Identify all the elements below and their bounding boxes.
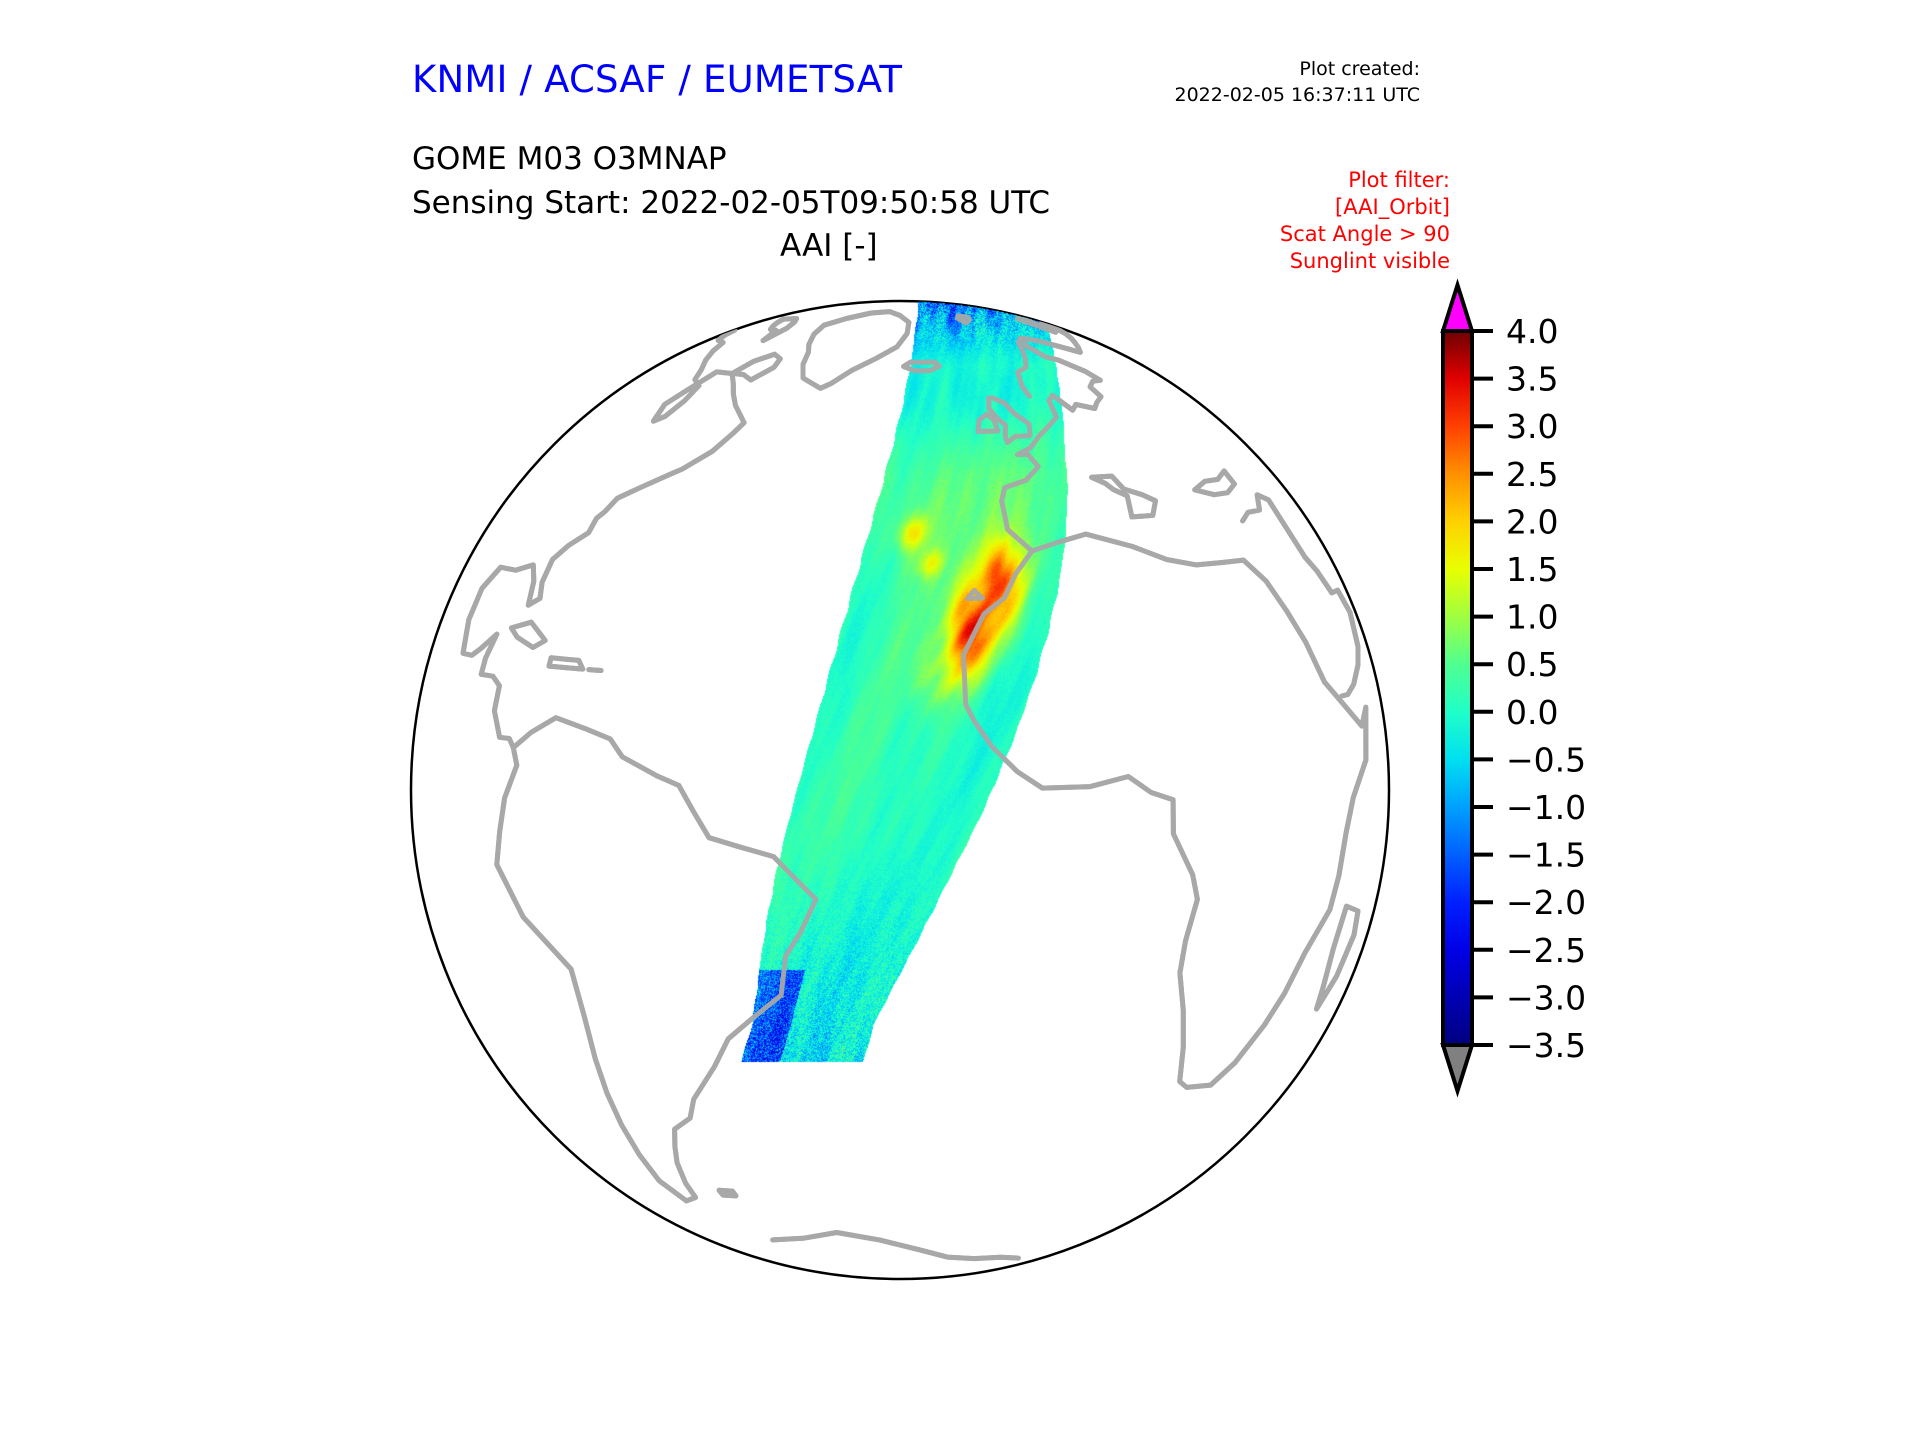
plot-filter-line-1: Plot filter: xyxy=(1110,167,1450,194)
colorbar-tick-label: 3.0 xyxy=(1506,407,1558,446)
coastline-path xyxy=(589,670,601,671)
colorbar-tick-label: 0.5 xyxy=(1506,645,1558,684)
plot-filter-line-2: [AAI_Orbit] xyxy=(1110,194,1450,221)
colorbar-tick-label: 4.0 xyxy=(1506,312,1558,351)
aai-swath xyxy=(400,283,1400,1303)
instrument-title: GOME M03 O3MNAP xyxy=(412,137,1050,181)
colorbar-tick-label: 2.5 xyxy=(1506,455,1558,494)
variable-title: AAI [-] xyxy=(780,228,878,264)
organisation-title: KNMI / ACSAF / EUMETSAT xyxy=(412,58,902,101)
plot-filter-block: Plot filter: [AAI_Orbit] Scat Angle > 90… xyxy=(1110,167,1450,275)
colorbar-over-arrow xyxy=(1443,285,1472,331)
colorbar-tick-label: −3.0 xyxy=(1506,978,1586,1017)
page-title: GOME M03 O3MNAP Sensing Start: 2022-02-0… xyxy=(412,137,1050,225)
plot-created-block: Plot created: 2022-02-05 16:37:11 UTC xyxy=(1100,56,1420,108)
colorbar-tick-label: −2.5 xyxy=(1506,931,1586,970)
colorbar-tick-label: 2.0 xyxy=(1506,502,1558,541)
map-contents xyxy=(400,283,1400,1303)
sensing-start-title: Sensing Start: 2022-02-05T09:50:58 UTC xyxy=(412,181,1050,225)
coastline-path xyxy=(957,316,969,323)
colorbar-tick-label: −1.0 xyxy=(1506,788,1586,827)
colorbar-tick-label: 1.5 xyxy=(1506,550,1558,589)
colorbar-tick-label: 0.0 xyxy=(1506,693,1558,732)
map-panel xyxy=(400,283,1400,1303)
colorbar-tick-label: −3.5 xyxy=(1506,1026,1586,1065)
colorbar-under-arrow xyxy=(1443,1045,1472,1091)
colorbar-tick-label: −2.0 xyxy=(1506,883,1586,922)
colorbar: 4.03.53.02.52.01.51.00.50.0−0.5−1.0−1.5−… xyxy=(1420,275,1680,1105)
colorbar-tick-label: −1.5 xyxy=(1506,836,1586,875)
colorbar-gradient xyxy=(1443,331,1472,1045)
coastline-path xyxy=(719,1190,736,1196)
colorbar-panel: 4.03.53.02.52.01.51.00.50.0−0.5−1.0−1.5−… xyxy=(1420,275,1680,1105)
plot-created-value: 2022-02-05 16:37:11 UTC xyxy=(1100,82,1420,108)
aai-swath-raster xyxy=(400,283,1400,1303)
plot-filter-line-3: Scat Angle > 90 xyxy=(1110,221,1450,248)
colorbar-ticks: 4.03.53.02.52.01.51.00.50.0−0.5−1.0−1.5−… xyxy=(1472,312,1586,1065)
colorbar-tick-label: 1.0 xyxy=(1506,598,1558,637)
colorbar-tick-label: −0.5 xyxy=(1506,740,1586,779)
orthographic-globe xyxy=(400,283,1400,1303)
plot-page: KNMI / ACSAF / EUMETSAT Plot created: 20… xyxy=(0,0,1920,1440)
plot-created-label: Plot created: xyxy=(1100,56,1420,82)
colorbar-tick-label: 3.5 xyxy=(1506,360,1558,399)
plot-filter-line-4: Sunglint visible xyxy=(1110,248,1450,275)
